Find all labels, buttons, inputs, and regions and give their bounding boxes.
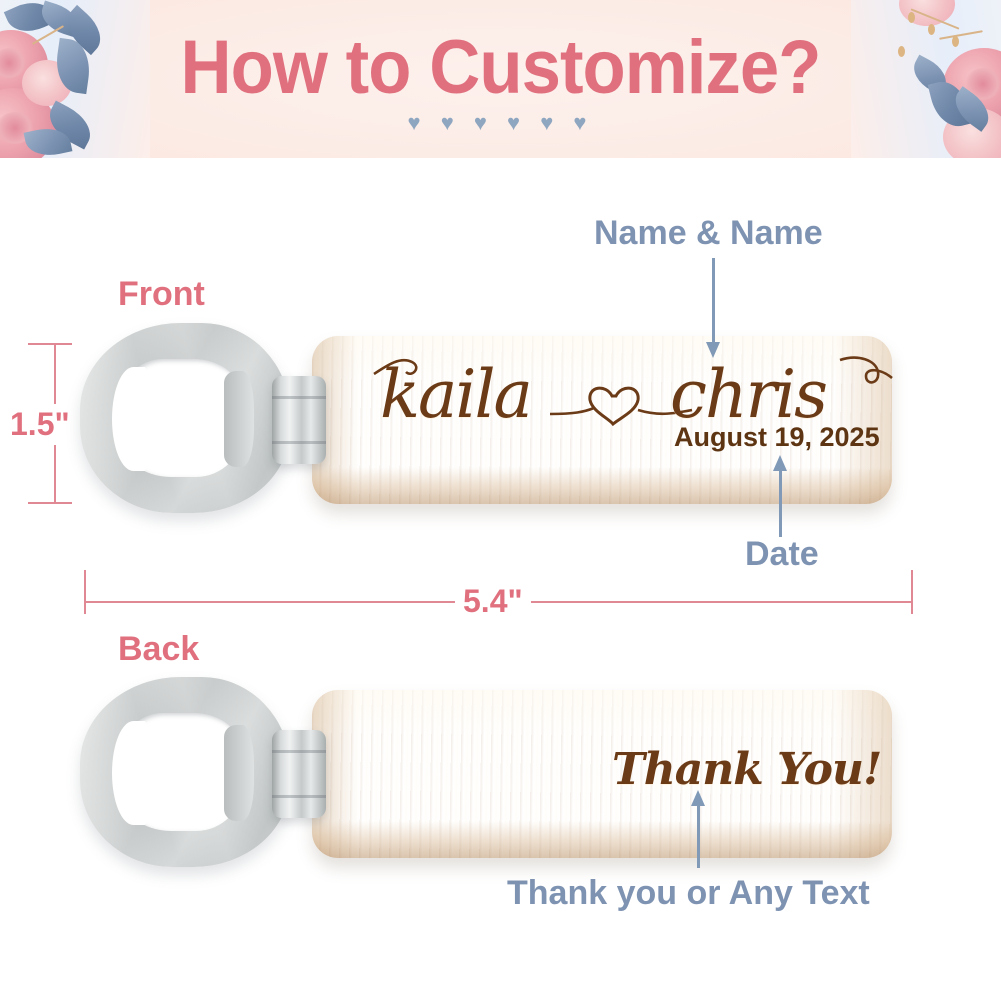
opener-head [80, 323, 290, 513]
width-dimension-label: 5.4" [455, 583, 531, 620]
opener-lip [224, 371, 254, 467]
engraved-date: August 19, 2025 [674, 422, 880, 453]
page-title: How to Customize? [35, 28, 966, 108]
front-side-label: Front [118, 275, 205, 314]
back-side-label: Back [118, 630, 199, 669]
arrow-shaft [712, 258, 715, 342]
dimension-cap-top [28, 343, 72, 345]
opener-tooth [112, 721, 148, 825]
height-dimension-label: 1.5" [6, 404, 74, 445]
metal-ferrule [272, 730, 326, 818]
metal-ferrule [272, 376, 326, 464]
dimension-cap-bottom [28, 502, 72, 504]
message-annotation-label: Thank you or Any Text [507, 874, 870, 913]
name-annotation-label: Name & Name [594, 214, 823, 253]
opener-tooth [112, 367, 148, 471]
front-opener: kaila chris August 19, 2025 [80, 318, 920, 538]
handle-bottom-edge [312, 467, 892, 504]
handle-bottom-edge [312, 821, 892, 858]
sprig-bud-icon [908, 12, 915, 23]
date-annotation-label: Date [745, 535, 819, 574]
handle-highlight [312, 690, 892, 734]
heart-divider: ♥ ♥ ♥ ♥ ♥ ♥ [0, 112, 1001, 134]
arrow-shaft [697, 804, 700, 868]
arrow-shaft [779, 469, 782, 537]
engraved-message: Thank You! [612, 744, 881, 795]
dimension-cap-right [911, 570, 913, 614]
engraved-name-one: kaila [380, 356, 531, 433]
opener-head [80, 677, 290, 867]
arrow-head-down-icon [706, 342, 720, 358]
engraving-swash-right [836, 350, 902, 404]
dimension-cap-left [84, 570, 86, 614]
header-banner: How to Customize? ♥ ♥ ♥ ♥ ♥ ♥ [0, 0, 1001, 158]
opener-lip [224, 725, 254, 821]
back-opener: Thank You! [80, 672, 920, 892]
